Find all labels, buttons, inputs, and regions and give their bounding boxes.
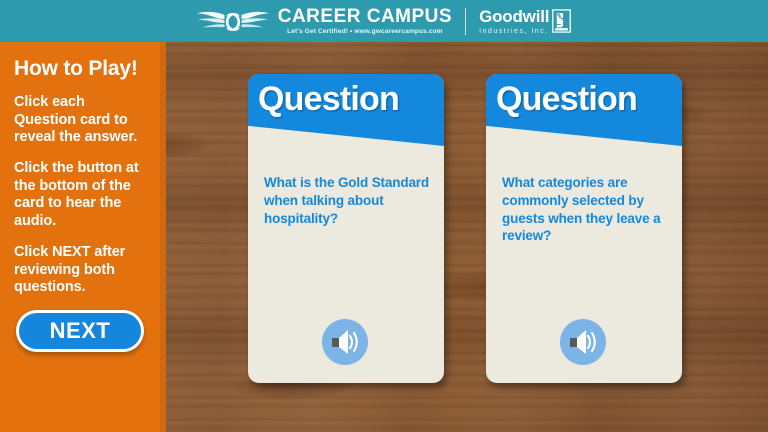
brand-row: CAREER CAMPUS Let's Get Certified! • www… (197, 7, 572, 36)
brand-header: CAREER CAMPUS Let's Get Certified! • www… (0, 0, 768, 42)
instruction-step-1: Click each Question card to reveal the a… (14, 94, 150, 147)
instructions-sidebar: How to Play! Click each Question card to… (0, 42, 160, 432)
next-button-label: NEXT (50, 318, 111, 344)
goodwill-text: Goodwill Industries, Inc. (479, 8, 549, 35)
question-card-1[interactable]: Question What is the Gold Standard when … (248, 74, 444, 383)
card-banner-label-2: Question (496, 82, 637, 116)
sidebar-edge-stripe (160, 42, 166, 432)
sidebar-title: How to Play! (14, 58, 150, 79)
slide-stage: CAREER CAMPUS Let's Get Certified! • www… (0, 0, 768, 432)
audio-play-button-1[interactable] (322, 319, 368, 365)
card-question-text-2: What categories are commonly selected by… (502, 174, 668, 245)
goodwill-title: Goodwill (479, 8, 549, 25)
audio-play-button-2[interactable] (560, 319, 606, 365)
instruction-step-3: Click NEXT after reviewing both question… (14, 244, 150, 297)
goodwill-logo: Goodwill Industries, Inc. (479, 8, 571, 35)
speaker-audio-icon (568, 329, 598, 355)
instruction-step-2: Click the button at the bottom of the ca… (14, 160, 150, 231)
career-campus-tagline: Let's Get Certified! • www.gwcareercampu… (287, 29, 443, 36)
question-card-2[interactable]: Question What categories are commonly se… (486, 74, 682, 383)
logo-divider (465, 8, 466, 35)
goodwill-smile-g-icon (552, 9, 571, 33)
wings-icon (197, 8, 269, 34)
career-campus-logo: CAREER CAMPUS Let's Get Certified! • www… (278, 7, 452, 36)
card-question-text-1: What is the Gold Standard when talking a… (264, 174, 430, 227)
speaker-audio-icon (330, 329, 360, 355)
card-banner-label-1: Question (258, 82, 399, 116)
goodwill-subtitle: Industries, Inc. (479, 28, 549, 35)
next-button[interactable]: NEXT (16, 310, 144, 352)
career-campus-title: CAREER CAMPUS (278, 7, 452, 26)
